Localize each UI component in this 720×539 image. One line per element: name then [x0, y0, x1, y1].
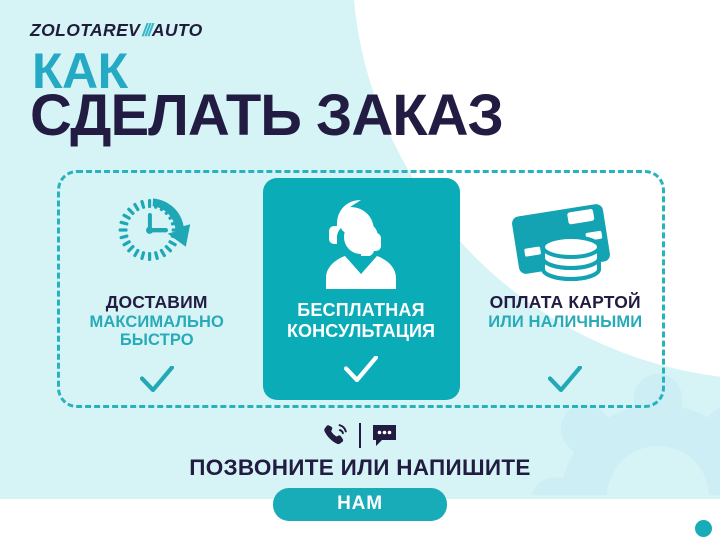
- promo-poster: ZOLOTAREV /// AUTO КАК СДЕЛАТЬ ЗАКАЗ: [0, 0, 720, 539]
- chat-bubble-icon[interactable]: [371, 423, 398, 448]
- card-subtitle-line1: ИЛИ НАЛИЧНЫМИ: [488, 314, 642, 332]
- check-icon: [344, 356, 378, 384]
- card-title: БЕСПЛАТНАЯ: [297, 300, 425, 321]
- card-subtitle: ИЛИ НАЛИЧНЫМИ: [488, 314, 642, 332]
- card-title: ДОСТАВИМ: [106, 292, 208, 313]
- cta-button[interactable]: НАМ: [273, 488, 447, 521]
- check-icon: [140, 366, 174, 394]
- cta-divider: [359, 423, 361, 448]
- feature-card-payment[interactable]: ОПЛАТА КАРТОЙ ИЛИ НАЛИЧНЫМИ: [466, 170, 666, 408]
- brand-logo: ZOLOTAREV /// AUTO: [30, 20, 203, 41]
- credit-card-coins-icon: [509, 192, 621, 288]
- phone-call-icon[interactable]: [322, 422, 349, 449]
- logo-slashes-icon: ///: [142, 20, 151, 41]
- feature-card-consultation[interactable]: БЕСПЛАТНАЯ КОНСУЛЬТАЦИЯ: [263, 178, 460, 400]
- avito-badge: [695, 520, 712, 537]
- card-subtitle-line1: МАКСИМАЛЬНО: [90, 314, 224, 332]
- card-subtitle: КОНСУЛЬТАЦИЯ: [287, 322, 435, 341]
- cta-text: ПОЗВОНИТЕ ИЛИ НАПИШИТЕ: [189, 455, 530, 481]
- card-subtitle-line1: КОНСУЛЬТАЦИЯ: [287, 322, 435, 341]
- logo-text-left: ZOLOTAREV: [30, 20, 140, 41]
- heading-line-2: СДЕЛАТЬ ЗАКАЗ: [30, 88, 503, 145]
- check-icon: [548, 366, 582, 394]
- cta-icon-row: [322, 420, 398, 450]
- card-subtitle: МАКСИМАЛЬНО БЫСТРО: [90, 314, 224, 350]
- logo-text-right: AUTO: [152, 20, 203, 41]
- feature-card-delivery[interactable]: ДОСТАВИМ МАКСИМАЛЬНО БЫСТРО: [57, 170, 257, 408]
- card-subtitle-line2: БЫСТРО: [90, 332, 224, 350]
- card-title: ОПЛАТА КАРТОЙ: [490, 292, 641, 313]
- avito-dots-icon: [615, 506, 641, 530]
- feature-cards: ДОСТАВИМ МАКСИМАЛЬНО БЫСТРО: [57, 170, 665, 408]
- headset-operator-icon: [313, 194, 409, 298]
- call-to-action: ПОЗВОНИТЕ ИЛИ НАПИШИТЕ НАМ: [0, 420, 720, 521]
- clock-arrow-icon: [105, 192, 209, 288]
